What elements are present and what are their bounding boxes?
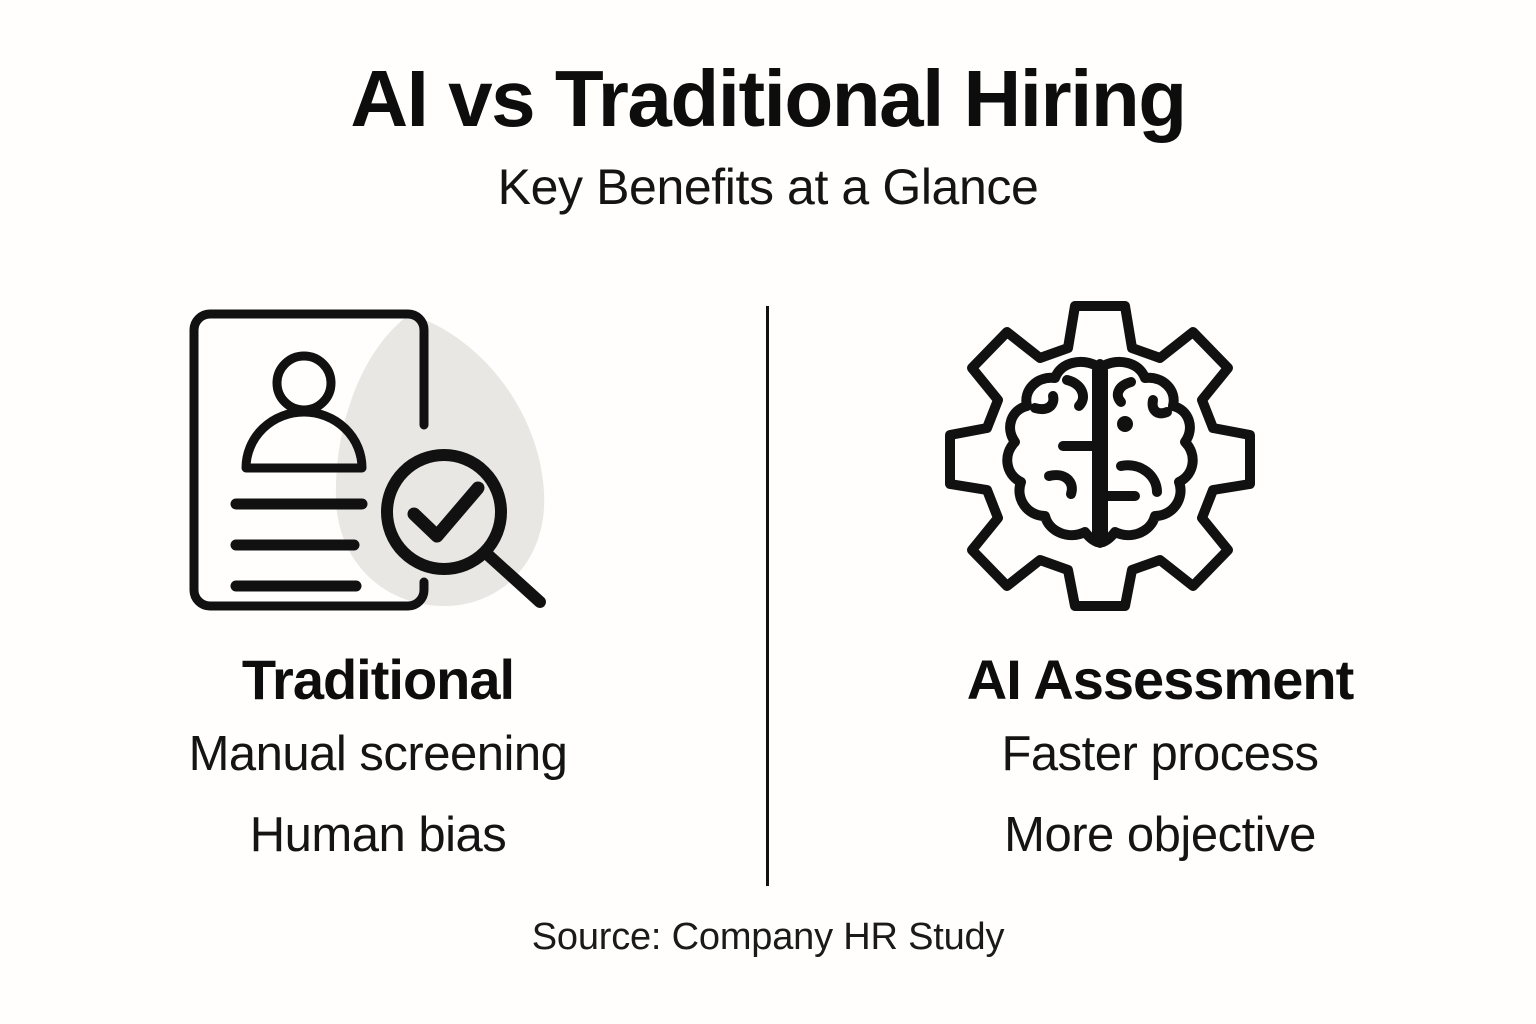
brain-node-dot [1117, 416, 1133, 432]
brain-left-folds [1035, 380, 1100, 494]
list-item: More objective [820, 811, 1500, 860]
source-attribution: Source: Company HR Study [0, 916, 1536, 959]
column-heading-ai-assessment: AI Assessment [820, 652, 1500, 708]
icon-slot-traditional [38, 296, 718, 626]
infographic-canvas: AI vs Traditional Hiring Key Benefits at… [0, 0, 1536, 1024]
gear-brain-icon [945, 300, 1255, 612]
resume-document-magnifier-check-icon [188, 300, 578, 625]
column-divider [766, 306, 769, 886]
header-block: AI vs Traditional Hiring Key Benefits at… [0, 58, 1536, 212]
bullet-list-traditional: Manual screening Human bias [38, 730, 718, 860]
column-heading-traditional: Traditional [38, 652, 718, 708]
page-title: AI vs Traditional Hiring [0, 58, 1536, 140]
list-item: Manual screening [38, 730, 718, 779]
page-subtitle: Key Benefits at a Glance [0, 162, 1536, 212]
bullet-list-ai-assessment: Faster process More objective [820, 730, 1500, 860]
list-item: Faster process [820, 730, 1500, 779]
comparison-column-ai-assessment: AI Assessment Faster process More object… [820, 296, 1500, 860]
icon-slot-ai-assessment [820, 296, 1500, 626]
comparison-column-traditional: Traditional Manual screening Human bias [38, 296, 718, 860]
avatar-head-icon [277, 356, 331, 410]
list-item: Human bias [38, 811, 718, 860]
brain-right-folds [1105, 382, 1167, 496]
